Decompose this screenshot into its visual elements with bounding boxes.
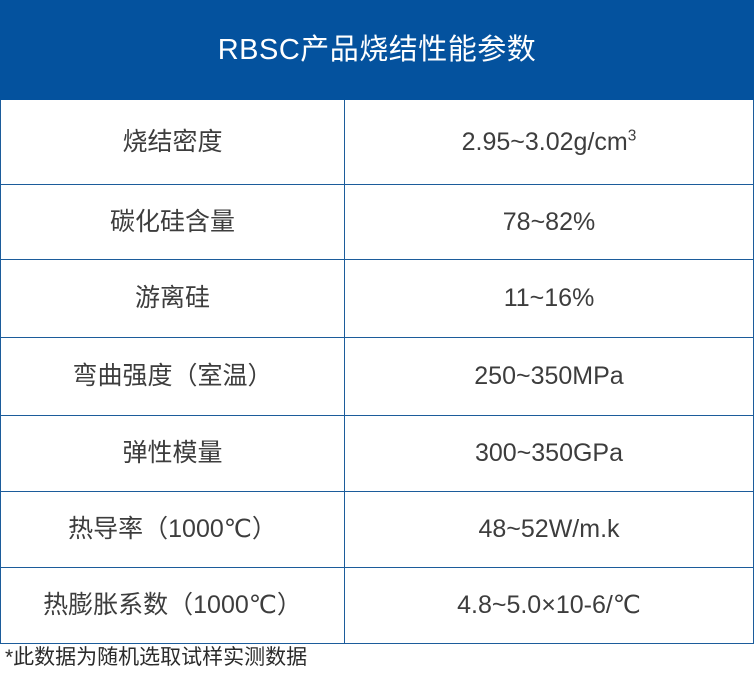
parameter-value: 48~52W/m.k <box>345 515 753 544</box>
parameter-name-cell: 烧结密度 <box>1 100 345 185</box>
specification-table: 烧结密度 2.95~3.02g/cm3 碳化硅含量 78~82% 游离硅 <box>0 100 754 644</box>
parameter-name-cell: 热膨胀系数（1000℃） <box>1 568 345 644</box>
parameter-name: 热导率（1000℃） <box>1 515 344 544</box>
parameter-value-text: 2.95~3.02g/cm <box>462 128 628 156</box>
parameter-name: 游离硅 <box>1 284 344 313</box>
parameter-value: 250~350MPa <box>345 362 753 391</box>
parameter-value-exponent: 3 <box>628 127 637 144</box>
parameter-value-cell: 78~82% <box>345 185 754 260</box>
table-row: 热膨胀系数（1000℃） 4.8~5.0×10-6/℃ <box>1 568 754 644</box>
parameter-value: 78~82% <box>345 208 753 237</box>
parameter-value: 300~350GPa <box>345 439 753 468</box>
table-row: 碳化硅含量 78~82% <box>1 185 754 260</box>
footnote: *此数据为随机选取试样实测数据 <box>5 645 307 670</box>
table-row: 游离硅 11~16% <box>1 260 754 338</box>
table-row: 热导率（1000℃） 48~52W/m.k <box>1 492 754 568</box>
parameter-value: 11~16% <box>345 284 753 313</box>
parameter-name-cell: 碳化硅含量 <box>1 185 345 260</box>
parameter-name: 碳化硅含量 <box>1 208 344 237</box>
table-body: 烧结密度 2.95~3.02g/cm3 碳化硅含量 78~82% 游离硅 <box>1 100 754 644</box>
parameter-value: 2.95~3.02g/cm3 <box>345 128 753 157</box>
parameter-value-cell: 250~350MPa <box>345 338 754 416</box>
table-row: 弯曲强度（室温） 250~350MPa <box>1 338 754 416</box>
parameter-name: 热膨胀系数（1000℃） <box>1 591 344 620</box>
parameter-name-cell: 热导率（1000℃） <box>1 492 345 568</box>
parameter-value-cell: 11~16% <box>345 260 754 338</box>
parameter-name: 弹性模量 <box>1 439 344 468</box>
parameter-name-cell: 弯曲强度（室温） <box>1 338 345 416</box>
table-row: 烧结密度 2.95~3.02g/cm3 <box>1 100 754 185</box>
parameter-value: 4.8~5.0×10-6/℃ <box>345 591 753 620</box>
parameter-name-cell: 弹性模量 <box>1 416 345 492</box>
parameter-name: 弯曲强度（室温） <box>1 362 344 391</box>
spec-sheet: RBSC产品烧结性能参数 烧结密度 2.95~3.02g/cm3 碳化硅含量 <box>0 0 754 687</box>
parameter-value-cell: 48~52W/m.k <box>345 492 754 568</box>
parameter-value-cell: 300~350GPa <box>345 416 754 492</box>
parameter-value-cell: 2.95~3.02g/cm3 <box>345 100 754 185</box>
parameter-name-cell: 游离硅 <box>1 260 345 338</box>
parameter-value-cell: 4.8~5.0×10-6/℃ <box>345 568 754 644</box>
table-row: 弹性模量 300~350GPa <box>1 416 754 492</box>
title-bar: RBSC产品烧结性能参数 <box>0 0 754 100</box>
page-title: RBSC产品烧结性能参数 <box>218 36 537 65</box>
parameter-name: 烧结密度 <box>1 128 344 157</box>
